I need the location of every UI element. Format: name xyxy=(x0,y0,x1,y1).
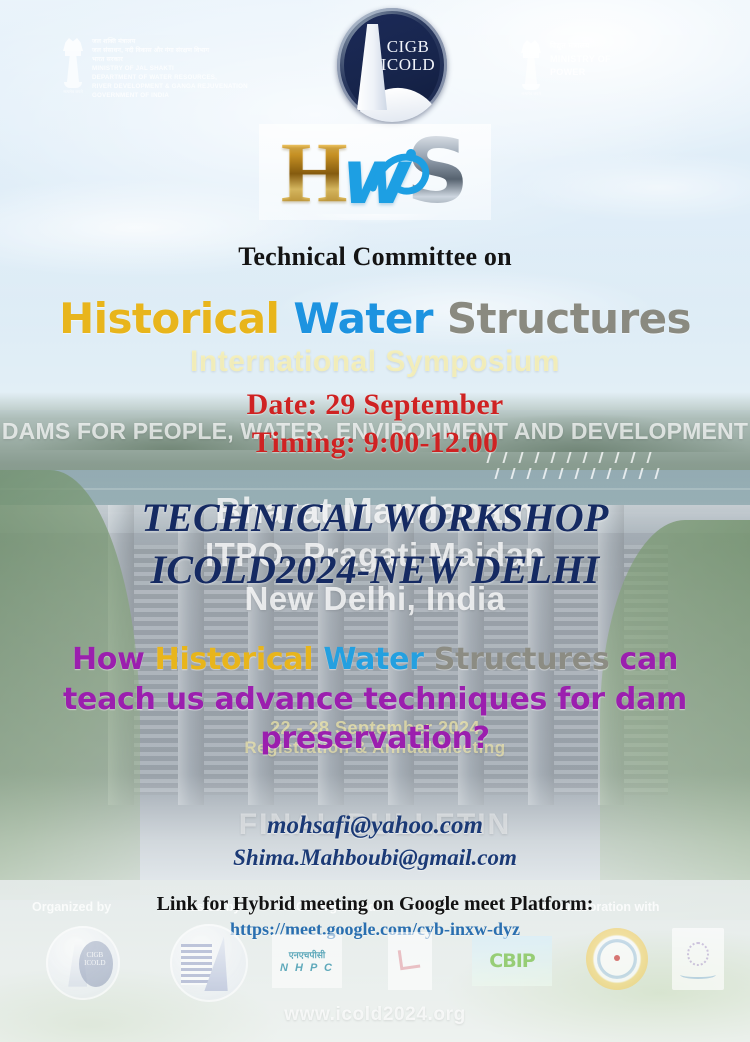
water-wave-icon xyxy=(363,138,433,204)
incold-dam-footer-logo xyxy=(170,924,248,1002)
badge-footer-logo xyxy=(586,928,648,990)
partner-logo-strip: CIGB ICOLD एनएचपीसी N H P C CBIP xyxy=(0,918,750,1004)
ministry-of-power-text-block: विद्युत मंत्रालय MINISTRY OF POWER xyxy=(550,38,611,110)
footer-logo-1-text-1: CIGB xyxy=(79,951,112,959)
ministry-of-power-emblem: सत्यमेव जयते विद्युत मंत्रालय MINISTRY O… xyxy=(520,38,690,110)
ministry-power-line-2: POWER xyxy=(550,66,611,78)
cigb-icold-footer-logo: CIGB ICOLD xyxy=(46,926,120,1000)
ministry-of-jal-shakti-emblem: सत्यमेव जयते जल शक्ति मंत्रालय जल संसाधन… xyxy=(62,36,292,114)
ashoka-emblem-icon: सत्यमेव जयते xyxy=(62,36,84,98)
ministry-left-line-5: DEPARTMENT OF WATER RESOURCES, xyxy=(92,74,248,82)
poster-canvas: International Symposium DAMS FOR PEOPLE,… xyxy=(0,0,750,1042)
icold-dam-logo-icon: CIGB ICOLD xyxy=(337,8,447,122)
ashoka-emblem-icon: सत्यमेव जयते xyxy=(520,38,542,100)
event-timing: Timing: 9:00-12.00 xyxy=(0,424,750,462)
workshop-question: How Historical Water Structures can teac… xyxy=(42,640,708,759)
nhpc-hindi-text: एनएचपीसी xyxy=(289,948,326,961)
ministry-left-line-3: भारत सरकार xyxy=(92,56,248,64)
contact-emails-block: mohsafi@yahoo.com Shima.Mahboubi@gmail.c… xyxy=(0,810,750,872)
page-title: Historical Water Structures xyxy=(0,294,750,343)
contact-email-2[interactable]: Shima.Mahboubi@gmail.com xyxy=(0,843,750,873)
page-subtitle-committee-prefix: Technical Committee on xyxy=(0,242,750,272)
ashoka-motto-text: सत्यमेव जयते xyxy=(520,91,542,97)
workshop-heading-line-2: ICOLD2024-NEW DELHI xyxy=(0,544,750,596)
ministry-left-line-7: GOVERNMENT OF INDIA xyxy=(92,92,248,100)
hws-letter-h: H xyxy=(281,129,348,215)
nhpc-footer-logo: एनएचपीसी N H P C xyxy=(272,934,342,988)
workshop-heading-block: TECHNICAL WORKSHOP ICOLD2024-NEW DELHI xyxy=(0,492,750,596)
ministry-left-line-4: MINISTRY OF JAL SHAKTI xyxy=(92,65,248,73)
meeting-link-label: Link for Hybrid meeting on Google meet P… xyxy=(0,893,750,916)
ashoka-motto-text: सत्यमेव जयते xyxy=(62,89,84,95)
question-word-water: Water xyxy=(323,642,423,677)
question-word-structures: Structures xyxy=(434,642,610,677)
question-sep-2 xyxy=(424,642,434,677)
cbip-footer-logo: CBIP xyxy=(472,936,552,986)
page-title-word-historical: Historical xyxy=(59,294,279,343)
question-word-historical: Historical xyxy=(155,642,314,677)
event-date: Date: 29 September xyxy=(0,386,750,424)
cbip-logo-text: CBIP xyxy=(489,950,534,972)
ministry-power-hindi: विद्युत मंत्रालय xyxy=(550,40,611,52)
event-datetime-block: Date: 29 September Timing: 9:00-12.00 xyxy=(0,386,750,463)
icold-logo-line-1: CIGB xyxy=(377,38,439,56)
icold-logo-line-2: ICOLD xyxy=(377,56,439,74)
page-title-word-structures: Structures xyxy=(447,294,691,343)
question-sep-1 xyxy=(313,642,323,677)
workshop-heading-line-1: TECHNICAL WORKSHOP xyxy=(0,492,750,544)
nhpc-latin-text: N H P C xyxy=(280,962,334,974)
hws-wordmark-icon: H w S xyxy=(0,120,750,224)
crest-footer-logo xyxy=(672,928,724,990)
page-title-word-water: Water xyxy=(293,294,432,343)
ministry-power-line-1: MINISTRY OF xyxy=(550,53,611,65)
ministry-left-line-6: RIVER DEVELOPMENT & GANGA REJUVENATION xyxy=(92,83,248,91)
ministry-left-text-block: जल शक्ति मंत्रालय जल संसाधन, नदी विकास औ… xyxy=(92,36,248,114)
contact-email-1[interactable]: mohsafi@yahoo.com xyxy=(0,810,750,843)
footer-logo-1-text-2: ICOLD xyxy=(79,959,112,967)
question-part-1: How xyxy=(72,642,155,677)
ministry-left-line-1: जल शक्ति मंत्रालय xyxy=(92,38,248,46)
partner-footer-logo-4 xyxy=(388,932,432,990)
ministry-left-line-2: जल संसाधन, नदी विकास और गंगा संरक्षण विभ… xyxy=(92,47,248,55)
